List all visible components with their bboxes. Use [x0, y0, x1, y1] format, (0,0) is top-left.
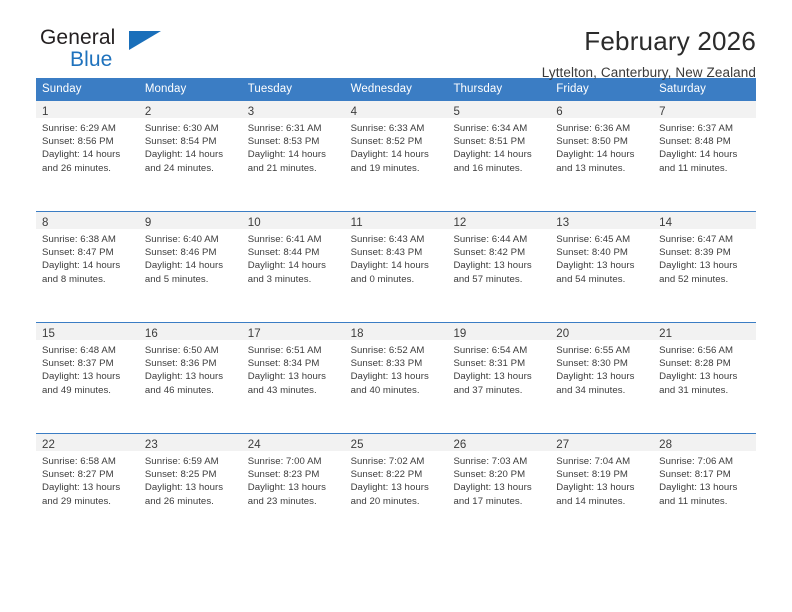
sunset-text: Sunset: 8:54 PM [145, 135, 238, 148]
sunset-text: Sunset: 8:33 PM [351, 357, 444, 370]
sunrise-text: Sunrise: 6:55 AM [556, 344, 649, 357]
daylight-text-line2: and 26 minutes. [145, 495, 238, 508]
day-cell[interactable]: 23 Sunrise: 6:59 AM Sunset: 8:25 PM Dayl… [139, 434, 242, 544]
day-number: 2 [145, 106, 152, 118]
daylight-text-line1: Daylight: 13 hours [145, 481, 238, 494]
day-number-band: 1 [36, 101, 139, 118]
daylight-text-line2: and 29 minutes. [42, 495, 135, 508]
daylight-text-line2: and 21 minutes. [248, 162, 341, 175]
daylight-text-line2: and 5 minutes. [145, 273, 238, 286]
sunrise-text: Sunrise: 6:56 AM [659, 344, 752, 357]
daylight-text-line1: Daylight: 13 hours [145, 370, 238, 383]
sunset-text: Sunset: 8:28 PM [659, 357, 752, 370]
sunrise-text: Sunrise: 6:54 AM [453, 344, 546, 357]
day-number: 4 [351, 106, 358, 118]
day-number: 13 [556, 217, 569, 229]
weekday-header-saturday: Saturday [653, 78, 756, 101]
daylight-text-line1: Daylight: 13 hours [351, 481, 444, 494]
day-cell[interactable]: 25 Sunrise: 7:02 AM Sunset: 8:22 PM Dayl… [345, 434, 448, 544]
day-number-band: 8 [36, 212, 139, 229]
daylight-text-line2: and 14 minutes. [556, 495, 649, 508]
day-number-band: 24 [242, 434, 345, 451]
day-number: 17 [248, 328, 261, 340]
day-number: 23 [145, 439, 158, 451]
day-number: 9 [145, 217, 152, 229]
day-number-band: 21 [653, 323, 756, 340]
day-number-band: 2 [139, 101, 242, 118]
sunset-text: Sunset: 8:37 PM [42, 357, 135, 370]
day-number-band: 11 [345, 212, 448, 229]
day-number: 1 [42, 106, 49, 118]
day-number: 5 [453, 106, 460, 118]
day-cell[interactable]: 22 Sunrise: 6:58 AM Sunset: 8:27 PM Dayl… [36, 434, 139, 544]
day-cell[interactable]: 12 Sunrise: 6:44 AM Sunset: 8:42 PM Dayl… [447, 212, 550, 322]
calendar-grid: Sunday Monday Tuesday Wednesday Thursday… [36, 78, 756, 544]
day-cell[interactable]: 9 Sunrise: 6:40 AM Sunset: 8:46 PM Dayli… [139, 212, 242, 322]
sunrise-text: Sunrise: 6:30 AM [145, 122, 238, 135]
day-number-band: 3 [242, 101, 345, 118]
sunrise-text: Sunrise: 6:44 AM [453, 233, 546, 246]
daylight-text-line2: and 3 minutes. [248, 273, 341, 286]
day-number: 3 [248, 106, 255, 118]
logo-triangle-icon [129, 31, 161, 50]
day-number-band: 22 [36, 434, 139, 451]
day-number: 14 [659, 217, 672, 229]
day-details: Sunrise: 7:03 AM Sunset: 8:20 PM Dayligh… [447, 451, 550, 508]
sunrise-text: Sunrise: 7:02 AM [351, 455, 444, 468]
sunset-text: Sunset: 8:20 PM [453, 468, 546, 481]
day-details: Sunrise: 7:00 AM Sunset: 8:23 PM Dayligh… [242, 451, 345, 508]
day-number-band: 15 [36, 323, 139, 340]
day-cell[interactable]: 28 Sunrise: 7:06 AM Sunset: 8:17 PM Dayl… [653, 434, 756, 544]
day-details: Sunrise: 6:41 AM Sunset: 8:44 PM Dayligh… [242, 229, 345, 286]
day-cell[interactable]: 27 Sunrise: 7:04 AM Sunset: 8:19 PM Dayl… [550, 434, 653, 544]
sunset-text: Sunset: 8:19 PM [556, 468, 649, 481]
sunset-text: Sunset: 8:30 PM [556, 357, 649, 370]
sunset-text: Sunset: 8:22 PM [351, 468, 444, 481]
daylight-text-line1: Daylight: 14 hours [145, 259, 238, 272]
day-number: 15 [42, 328, 55, 340]
sunset-text: Sunset: 8:42 PM [453, 246, 546, 259]
daylight-text-line1: Daylight: 14 hours [351, 259, 444, 272]
daylight-text-line1: Daylight: 13 hours [453, 259, 546, 272]
sunset-text: Sunset: 8:51 PM [453, 135, 546, 148]
daylight-text-line2: and 57 minutes. [453, 273, 546, 286]
sunrise-text: Sunrise: 6:40 AM [145, 233, 238, 246]
sunset-text: Sunset: 8:47 PM [42, 246, 135, 259]
daylight-text-line1: Daylight: 13 hours [42, 370, 135, 383]
daylight-text-line1: Daylight: 13 hours [556, 370, 649, 383]
week-row: 1 Sunrise: 6:29 AM Sunset: 8:56 PM Dayli… [36, 101, 756, 211]
day-number: 25 [351, 439, 364, 451]
daylight-text-line2: and 52 minutes. [659, 273, 752, 286]
daylight-text-line2: and 19 minutes. [351, 162, 444, 175]
daylight-text-line1: Daylight: 13 hours [42, 481, 135, 494]
day-cell[interactable]: 6 Sunrise: 6:36 AM Sunset: 8:50 PM Dayli… [550, 101, 653, 211]
day-details: Sunrise: 7:04 AM Sunset: 8:19 PM Dayligh… [550, 451, 653, 508]
daylight-text-line1: Daylight: 13 hours [556, 481, 649, 494]
day-number-band: 13 [550, 212, 653, 229]
day-number-band: 20 [550, 323, 653, 340]
page-title: February 2026 [542, 26, 756, 56]
day-details: Sunrise: 6:44 AM Sunset: 8:42 PM Dayligh… [447, 229, 550, 286]
daylight-text-line1: Daylight: 14 hours [351, 148, 444, 161]
day-details: Sunrise: 6:47 AM Sunset: 8:39 PM Dayligh… [653, 229, 756, 286]
sunrise-text: Sunrise: 6:52 AM [351, 344, 444, 357]
day-details: Sunrise: 6:58 AM Sunset: 8:27 PM Dayligh… [36, 451, 139, 508]
day-number: 7 [659, 106, 666, 118]
sunrise-text: Sunrise: 6:34 AM [453, 122, 546, 135]
daylight-text-line2: and 0 minutes. [351, 273, 444, 286]
sunset-text: Sunset: 8:48 PM [659, 135, 752, 148]
daylight-text-line1: Daylight: 14 hours [659, 148, 752, 161]
day-details: Sunrise: 6:36 AM Sunset: 8:50 PM Dayligh… [550, 118, 653, 175]
sunset-text: Sunset: 8:40 PM [556, 246, 649, 259]
sunset-text: Sunset: 8:43 PM [351, 246, 444, 259]
sunrise-text: Sunrise: 7:00 AM [248, 455, 341, 468]
daylight-text-line1: Daylight: 13 hours [248, 370, 341, 383]
daylight-text-line2: and 49 minutes. [42, 384, 135, 397]
day-number: 18 [351, 328, 364, 340]
daylight-text-line1: Daylight: 13 hours [351, 370, 444, 383]
sunrise-text: Sunrise: 6:29 AM [42, 122, 135, 135]
day-details: Sunrise: 6:52 AM Sunset: 8:33 PM Dayligh… [345, 340, 448, 397]
sunset-text: Sunset: 8:23 PM [248, 468, 341, 481]
day-details: Sunrise: 6:30 AM Sunset: 8:54 PM Dayligh… [139, 118, 242, 175]
sunset-text: Sunset: 8:56 PM [42, 135, 135, 148]
daylight-text-line2: and 23 minutes. [248, 495, 341, 508]
daylight-text-line2: and 34 minutes. [556, 384, 649, 397]
daylight-text-line2: and 8 minutes. [42, 273, 135, 286]
day-details: Sunrise: 6:38 AM Sunset: 8:47 PM Dayligh… [36, 229, 139, 286]
day-cell[interactable]: 21 Sunrise: 6:56 AM Sunset: 8:28 PM Dayl… [653, 323, 756, 433]
day-number: 12 [453, 217, 466, 229]
daylight-text-line2: and 11 minutes. [659, 162, 752, 175]
sunrise-text: Sunrise: 6:31 AM [248, 122, 341, 135]
sunrise-text: Sunrise: 6:45 AM [556, 233, 649, 246]
day-cell[interactable]: 24 Sunrise: 7:00 AM Sunset: 8:23 PM Dayl… [242, 434, 345, 544]
generalblue-logo[interactable]: General Blue [36, 26, 186, 78]
sunrise-text: Sunrise: 6:37 AM [659, 122, 752, 135]
day-cell[interactable]: 1 Sunrise: 6:29 AM Sunset: 8:56 PM Dayli… [36, 101, 139, 211]
sunrise-text: Sunrise: 7:06 AM [659, 455, 752, 468]
daylight-text-line1: Daylight: 14 hours [248, 259, 341, 272]
day-cell[interactable]: 19 Sunrise: 6:54 AM Sunset: 8:31 PM Dayl… [447, 323, 550, 433]
day-cell[interactable]: 16 Sunrise: 6:50 AM Sunset: 8:36 PM Dayl… [139, 323, 242, 433]
day-details: Sunrise: 6:40 AM Sunset: 8:46 PM Dayligh… [139, 229, 242, 286]
day-number: 16 [145, 328, 158, 340]
daylight-text-line1: Daylight: 14 hours [453, 148, 546, 161]
day-details: Sunrise: 6:59 AM Sunset: 8:25 PM Dayligh… [139, 451, 242, 508]
sunset-text: Sunset: 8:52 PM [351, 135, 444, 148]
weekday-header-sunday: Sunday [36, 78, 139, 101]
day-details: Sunrise: 6:43 AM Sunset: 8:43 PM Dayligh… [345, 229, 448, 286]
day-details: Sunrise: 7:02 AM Sunset: 8:22 PM Dayligh… [345, 451, 448, 508]
daylight-text-line1: Daylight: 14 hours [42, 148, 135, 161]
day-cell[interactable]: 10 Sunrise: 6:41 AM Sunset: 8:44 PM Dayl… [242, 212, 345, 322]
day-number-band: 26 [447, 434, 550, 451]
day-number: 21 [659, 328, 672, 340]
daylight-text-line1: Daylight: 13 hours [659, 259, 752, 272]
day-cell[interactable]: 7 Sunrise: 6:37 AM Sunset: 8:48 PM Dayli… [653, 101, 756, 211]
daylight-text-line2: and 31 minutes. [659, 384, 752, 397]
sunset-text: Sunset: 8:50 PM [556, 135, 649, 148]
day-number-band: 10 [242, 212, 345, 229]
day-cell[interactable]: 26 Sunrise: 7:03 AM Sunset: 8:20 PM Dayl… [447, 434, 550, 544]
sunrise-text: Sunrise: 7:04 AM [556, 455, 649, 468]
logo-text-general: General [40, 26, 186, 49]
day-number-band: 6 [550, 101, 653, 118]
day-cell[interactable]: 3 Sunrise: 6:31 AM Sunset: 8:53 PM Dayli… [242, 101, 345, 211]
day-details: Sunrise: 6:48 AM Sunset: 8:37 PM Dayligh… [36, 340, 139, 397]
day-number: 8 [42, 217, 49, 229]
day-cell[interactable]: 13 Sunrise: 6:45 AM Sunset: 8:40 PM Dayl… [550, 212, 653, 322]
week-row: 22 Sunrise: 6:58 AM Sunset: 8:27 PM Dayl… [36, 433, 756, 544]
daylight-text-line1: Daylight: 13 hours [453, 370, 546, 383]
day-number-band: 7 [653, 101, 756, 118]
day-cell[interactable]: 18 Sunrise: 6:52 AM Sunset: 8:33 PM Dayl… [345, 323, 448, 433]
sunrise-text: Sunrise: 6:58 AM [42, 455, 135, 468]
weekday-header-row: Sunday Monday Tuesday Wednesday Thursday… [36, 78, 756, 101]
sunrise-text: Sunrise: 6:38 AM [42, 233, 135, 246]
sunset-text: Sunset: 8:46 PM [145, 246, 238, 259]
daylight-text-line1: Daylight: 13 hours [453, 481, 546, 494]
day-number-band: 23 [139, 434, 242, 451]
sunset-text: Sunset: 8:27 PM [42, 468, 135, 481]
daylight-text-line2: and 17 minutes. [453, 495, 546, 508]
day-number-band: 28 [653, 434, 756, 451]
title-block: February 2026 Lyttelton, Canterbury, New… [542, 26, 756, 82]
daylight-text-line1: Daylight: 14 hours [248, 148, 341, 161]
day-details: Sunrise: 7:06 AM Sunset: 8:17 PM Dayligh… [653, 451, 756, 508]
daylight-text-line2: and 40 minutes. [351, 384, 444, 397]
sunset-text: Sunset: 8:53 PM [248, 135, 341, 148]
weekday-header-monday: Monday [139, 78, 242, 101]
daylight-text-line2: and 16 minutes. [453, 162, 546, 175]
day-details: Sunrise: 6:33 AM Sunset: 8:52 PM Dayligh… [345, 118, 448, 175]
day-details: Sunrise: 6:56 AM Sunset: 8:28 PM Dayligh… [653, 340, 756, 397]
day-details: Sunrise: 6:55 AM Sunset: 8:30 PM Dayligh… [550, 340, 653, 397]
day-cell[interactable]: 17 Sunrise: 6:51 AM Sunset: 8:34 PM Dayl… [242, 323, 345, 433]
day-details: Sunrise: 6:31 AM Sunset: 8:53 PM Dayligh… [242, 118, 345, 175]
day-number: 19 [453, 328, 466, 340]
daylight-text-line1: Daylight: 14 hours [145, 148, 238, 161]
sunset-text: Sunset: 8:44 PM [248, 246, 341, 259]
day-cell[interactable]: 5 Sunrise: 6:34 AM Sunset: 8:51 PM Dayli… [447, 101, 550, 211]
day-number-band: 4 [345, 101, 448, 118]
day-cell[interactable]: 4 Sunrise: 6:33 AM Sunset: 8:52 PM Dayli… [345, 101, 448, 211]
sunrise-text: Sunrise: 6:48 AM [42, 344, 135, 357]
day-cell[interactable]: 8 Sunrise: 6:38 AM Sunset: 8:47 PM Dayli… [36, 212, 139, 322]
day-cell[interactable]: 20 Sunrise: 6:55 AM Sunset: 8:30 PM Dayl… [550, 323, 653, 433]
weekday-header-thursday: Thursday [447, 78, 550, 101]
day-number-band: 16 [139, 323, 242, 340]
day-number: 6 [556, 106, 563, 118]
sunset-text: Sunset: 8:25 PM [145, 468, 238, 481]
daylight-text-line2: and 13 minutes. [556, 162, 649, 175]
sunset-text: Sunset: 8:34 PM [248, 357, 341, 370]
daylight-text-line2: and 26 minutes. [42, 162, 135, 175]
day-number-band: 25 [345, 434, 448, 451]
day-cell[interactable]: 2 Sunrise: 6:30 AM Sunset: 8:54 PM Dayli… [139, 101, 242, 211]
weekday-header-tuesday: Tuesday [242, 78, 345, 101]
day-number-band: 27 [550, 434, 653, 451]
day-number: 11 [351, 217, 363, 229]
day-details: Sunrise: 6:54 AM Sunset: 8:31 PM Dayligh… [447, 340, 550, 397]
week-row: 8 Sunrise: 6:38 AM Sunset: 8:47 PM Dayli… [36, 211, 756, 322]
day-details: Sunrise: 6:45 AM Sunset: 8:40 PM Dayligh… [550, 229, 653, 286]
daylight-text-line2: and 37 minutes. [453, 384, 546, 397]
day-number-band: 9 [139, 212, 242, 229]
daylight-text-line1: Daylight: 13 hours [659, 370, 752, 383]
day-number: 24 [248, 439, 261, 451]
sunset-text: Sunset: 8:17 PM [659, 468, 752, 481]
day-details: Sunrise: 6:37 AM Sunset: 8:48 PM Dayligh… [653, 118, 756, 175]
daylight-text-line2: and 20 minutes. [351, 495, 444, 508]
day-number-band: 12 [447, 212, 550, 229]
daylight-text-line2: and 54 minutes. [556, 273, 649, 286]
day-number: 27 [556, 439, 569, 451]
daylight-text-line2: and 24 minutes. [145, 162, 238, 175]
sunset-text: Sunset: 8:31 PM [453, 357, 546, 370]
sunset-text: Sunset: 8:36 PM [145, 357, 238, 370]
sunrise-text: Sunrise: 6:36 AM [556, 122, 649, 135]
daylight-text-line2: and 11 minutes. [659, 495, 752, 508]
week-row: 15 Sunrise: 6:48 AM Sunset: 8:37 PM Dayl… [36, 322, 756, 433]
day-number-band: 5 [447, 101, 550, 118]
sunrise-text: Sunrise: 6:41 AM [248, 233, 341, 246]
daylight-text-line1: Daylight: 13 hours [659, 481, 752, 494]
sunrise-text: Sunrise: 6:33 AM [351, 122, 444, 135]
weekday-header-friday: Friday [550, 78, 653, 101]
day-number-band: 14 [653, 212, 756, 229]
weekday-header-wednesday: Wednesday [345, 78, 448, 101]
daylight-text-line1: Daylight: 14 hours [42, 259, 135, 272]
sunrise-text: Sunrise: 6:47 AM [659, 233, 752, 246]
day-details: Sunrise: 6:29 AM Sunset: 8:56 PM Dayligh… [36, 118, 139, 175]
day-number-band: 18 [345, 323, 448, 340]
sunrise-text: Sunrise: 7:03 AM [453, 455, 546, 468]
day-number: 28 [659, 439, 672, 451]
sunset-text: Sunset: 8:39 PM [659, 246, 752, 259]
day-cell[interactable]: 15 Sunrise: 6:48 AM Sunset: 8:37 PM Dayl… [36, 323, 139, 433]
day-details: Sunrise: 6:51 AM Sunset: 8:34 PM Dayligh… [242, 340, 345, 397]
logo-text-blue: Blue [40, 49, 186, 71]
daylight-text-line1: Daylight: 13 hours [556, 259, 649, 272]
day-number-band: 19 [447, 323, 550, 340]
sunrise-text: Sunrise: 6:50 AM [145, 344, 238, 357]
daylight-text-line2: and 43 minutes. [248, 384, 341, 397]
daylight-text-line1: Daylight: 14 hours [556, 148, 649, 161]
day-details: Sunrise: 6:50 AM Sunset: 8:36 PM Dayligh… [139, 340, 242, 397]
daylight-text-line2: and 46 minutes. [145, 384, 238, 397]
day-cell[interactable]: 11 Sunrise: 6:43 AM Sunset: 8:43 PM Dayl… [345, 212, 448, 322]
daylight-text-line1: Daylight: 13 hours [248, 481, 341, 494]
sunrise-text: Sunrise: 6:51 AM [248, 344, 341, 357]
day-details: Sunrise: 6:34 AM Sunset: 8:51 PM Dayligh… [447, 118, 550, 175]
day-number: 20 [556, 328, 569, 340]
day-number: 22 [42, 439, 55, 451]
calendar-page: General Blue February 2026 Lyttelton, Ca… [0, 0, 792, 612]
day-cell[interactable]: 14 Sunrise: 6:47 AM Sunset: 8:39 PM Dayl… [653, 212, 756, 322]
day-number: 10 [248, 217, 261, 229]
sunrise-text: Sunrise: 6:43 AM [351, 233, 444, 246]
day-number: 26 [453, 439, 466, 451]
page-header: General Blue February 2026 Lyttelton, Ca… [36, 0, 756, 72]
sunrise-text: Sunrise: 6:59 AM [145, 455, 238, 468]
day-number-band: 17 [242, 323, 345, 340]
